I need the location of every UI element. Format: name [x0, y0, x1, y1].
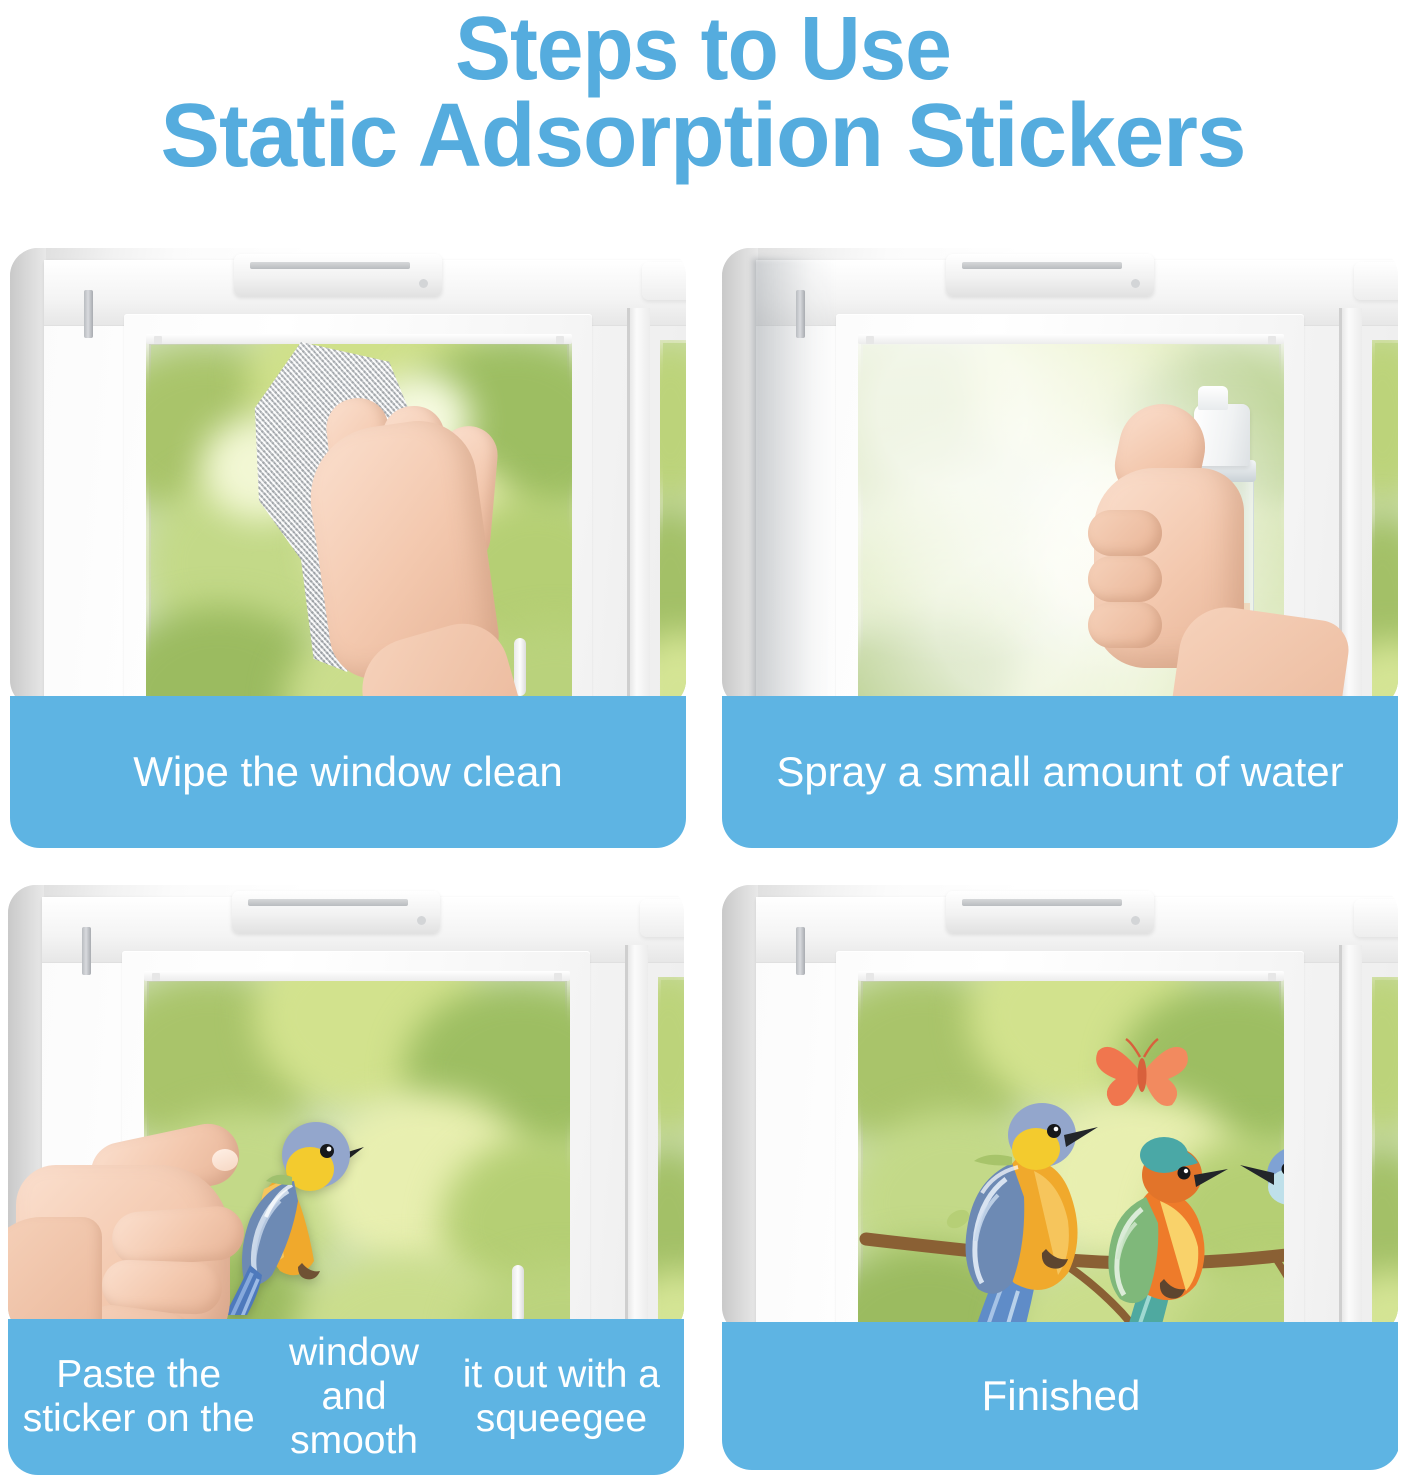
trickle-vent-icon — [234, 254, 442, 296]
window-hinge-icon — [796, 927, 805, 975]
glazing-bead — [144, 971, 570, 981]
window-second-pane — [660, 340, 686, 708]
window-sash — [836, 951, 1304, 1335]
bead-screw — [1268, 336, 1276, 344]
hand-holding-sticker — [16, 1131, 316, 1335]
step-4-image — [722, 885, 1398, 1335]
trickle-vent-secondary-icon — [1354, 899, 1398, 937]
step-2-caption: Spray a small amount of water — [722, 696, 1398, 848]
bead-screw — [152, 973, 160, 981]
hand-wiping — [260, 398, 530, 708]
window-mullion — [1340, 945, 1362, 1335]
step-4-caption: Finished — [722, 1322, 1398, 1470]
butterfly-sticker-white — [1262, 985, 1284, 1145]
step-1-caption-line: Wipe the window clean — [133, 748, 563, 795]
window-second-pane — [1372, 340, 1398, 708]
step-3-image — [8, 885, 684, 1335]
step-card-1: Wipe the window clean — [10, 248, 686, 848]
spray-nozzle-tip — [1198, 386, 1228, 410]
frosted-reveal — [752, 258, 838, 708]
window-hinge-icon — [84, 290, 93, 338]
window-second-pane — [658, 977, 684, 1335]
window-handle — [512, 1265, 524, 1323]
trickle-vent-secondary-icon — [640, 899, 684, 937]
trickle-vent-secondary-icon — [1354, 262, 1398, 300]
trickle-vent-secondary-icon — [642, 262, 686, 300]
bead-screw — [1268, 973, 1276, 981]
step-1-caption: Wipe the window clean — [10, 696, 686, 848]
window-mullion-line — [625, 945, 628, 1335]
window-second-pane — [1372, 977, 1398, 1335]
bead-screw — [554, 973, 562, 981]
step-3-caption-line-3: it out with a squeegee — [453, 1353, 670, 1441]
knuckle — [1088, 602, 1162, 648]
trickle-vent-icon — [232, 891, 440, 933]
fingernail — [212, 1149, 238, 1171]
window-mullion-line — [627, 308, 630, 708]
step-card-3: Paste the sticker on the window and smoo… — [8, 885, 684, 1475]
step-3-caption-line-1: Paste the sticker on the — [22, 1353, 255, 1441]
step-1-image — [10, 248, 686, 708]
page-title: Steps to Use Static Adsorption Stickers — [0, 0, 1406, 181]
bird-branch-sticker-artwork — [858, 983, 1284, 1335]
bead-screw — [154, 336, 162, 344]
knuckle — [1088, 510, 1162, 556]
hand-holding-spray-bottle — [1040, 398, 1330, 708]
knuckle — [1088, 556, 1162, 602]
window-hinge-icon — [796, 290, 805, 338]
bead-screw — [866, 973, 874, 981]
step-card-2: Spray a small amount of water — [722, 248, 1398, 848]
window-glass-with-stickers — [858, 977, 1284, 1335]
title-line-1: Steps to Use — [49, 6, 1357, 93]
step-card-4: Finished — [722, 885, 1398, 1475]
step-4-caption-line: Finished — [982, 1372, 1141, 1419]
bead-screw — [556, 336, 564, 344]
step-3-caption-line-2: window and smooth — [255, 1331, 452, 1463]
step-2-image — [722, 248, 1398, 708]
title-line-2: Static Adsorption Stickers — [7, 93, 1399, 180]
step-3-caption: Paste the sticker on the window and smoo… — [8, 1319, 684, 1475]
glazing-bead — [146, 334, 572, 344]
steps-grid: Wipe the window clean — [0, 242, 1406, 1481]
window-mullion — [628, 308, 650, 708]
window-reveal-left — [10, 248, 46, 708]
glazing-bead — [858, 334, 1284, 344]
window-mullion — [626, 945, 648, 1335]
window-hinge-icon — [82, 927, 91, 975]
window-mullion-line — [1339, 945, 1342, 1335]
window-reveal-left — [722, 885, 758, 1335]
butterfly-sticker-orange — [1082, 1021, 1202, 1121]
bead-screw — [866, 336, 874, 344]
step-2-caption-line: Spray a small amount of water — [776, 748, 1343, 795]
trickle-vent-icon — [946, 891, 1154, 933]
trickle-vent-icon — [946, 254, 1154, 296]
glazing-bead — [858, 971, 1284, 981]
